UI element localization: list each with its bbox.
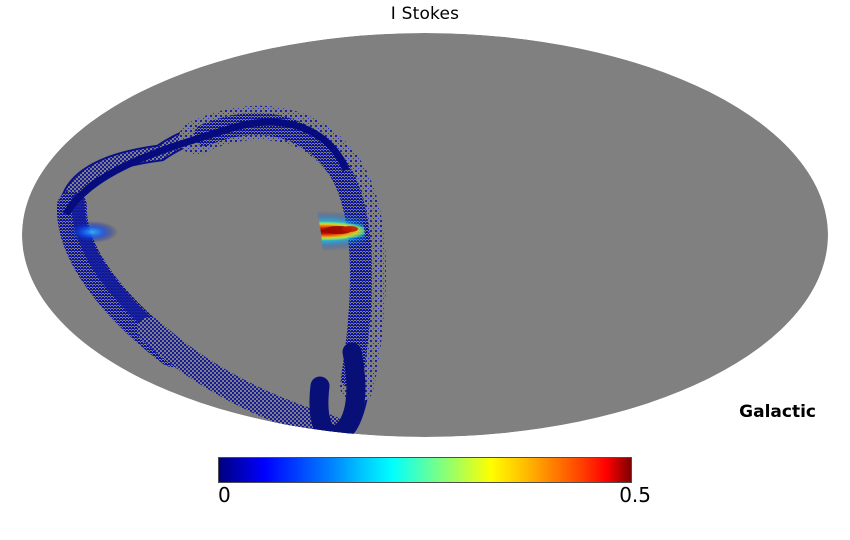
colorbar-gradient[interactable] (218, 457, 632, 483)
colorbar-min-label: 0 (218, 483, 231, 507)
colorbar[interactable] (218, 457, 632, 483)
left-limb-knot (66, 221, 118, 243)
mollweide-projection-canvas (0, 0, 850, 450)
coordinate-system-label: Galactic (739, 402, 816, 422)
sky-map[interactable] (0, 0, 850, 450)
unobserved-sky-region (22, 33, 828, 437)
colorbar-max-label: 0.5 (611, 483, 651, 507)
plane-crossing-peak-c (342, 226, 358, 232)
